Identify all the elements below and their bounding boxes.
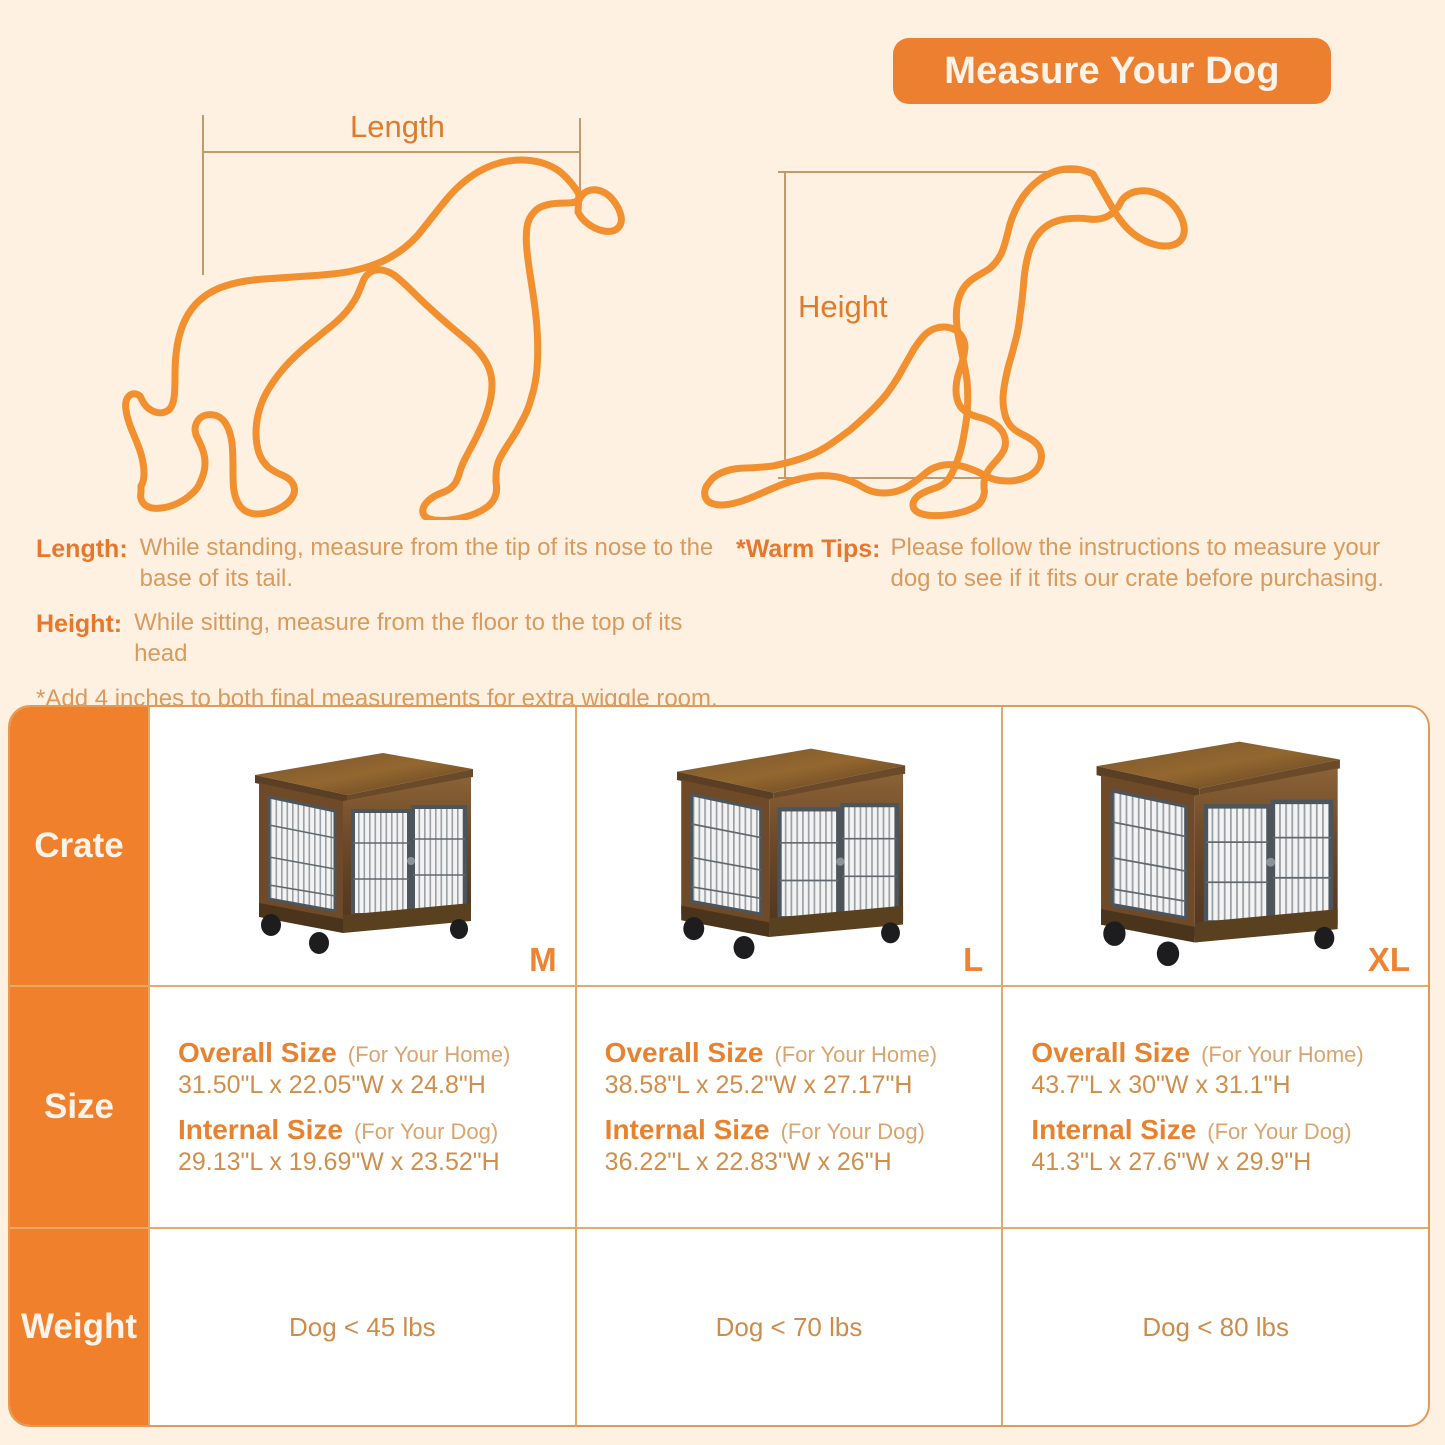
overall-size-title-xl: Overall Size [1031,1037,1190,1069]
warm-tips-block: *Warm Tips: Please follow the instructio… [736,533,1426,608]
overall-size-line-l: Overall Size (For Your Home) [605,1037,1002,1069]
overall-size-sub-xl: (For Your Home) [1201,1042,1364,1068]
sitting-dog-outline [705,169,1185,516]
dog-crate-icon-xl [1056,726,1376,966]
internal-size-line-l: Internal Size (For Your Dog) [605,1114,1002,1146]
dog-crate-icon-m [237,739,487,954]
crate-size-tag-m: M [529,941,557,979]
length-label: Length [350,109,445,144]
weight-cell-xl: Dog < 80 lbs [1001,1229,1428,1425]
internal-size-value-l: 36.22"L x 22.83"W x 26"H [605,1148,1002,1177]
crate-cell-l: L [575,707,1002,985]
height-instruction-text: While sitting, measure from the floor to… [134,608,726,669]
crate-size-tag-xl: XL [1368,941,1410,979]
crate-size-comparison-table: Crate [8,705,1430,1427]
crate-figure-m [160,717,565,975]
crate-size-tag-l: L [963,941,983,979]
row-header-weight: Weight [10,1229,148,1425]
row-header-size-label: Size [44,1087,114,1127]
crate-figure-xl [1013,717,1418,975]
table-row-crate: Crate [10,707,1428,985]
dog-crate-icon-l [644,734,934,959]
internal-size-line-xl: Internal Size (For Your Dog) [1031,1114,1428,1146]
length-instruction-key: Length: [36,533,140,565]
table-row-weight: Weight Dog < 45 lbs Dog < 70 lbs Dog < 8… [10,1227,1428,1425]
overall-size-value-m: 31.50"L x 22.05"W x 24.8"H [178,1071,575,1100]
internal-size-title-m: Internal Size [178,1114,343,1146]
overall-size-line-m: Overall Size (For Your Home) [178,1037,575,1069]
weight-cell-m: Dog < 45 lbs [148,1229,575,1425]
crate-figure-l [587,717,992,975]
row-header-crate: Crate [10,707,148,985]
height-instruction-row: Height: While sitting, measure from the … [36,608,726,669]
measurement-instructions: Length: While standing, measure from the… [36,533,726,715]
table-row-size: Size Overall Size (For Your Home) 31.50"… [10,985,1428,1227]
internal-size-line-m: Internal Size (For Your Dog) [178,1114,575,1146]
warm-tips-key: *Warm Tips: [736,533,890,565]
overall-size-sub-m: (For Your Home) [348,1042,511,1068]
weight-value-xl: Dog < 80 lbs [1142,1312,1289,1343]
crate-cell-m: M [148,707,575,985]
size-block-m: Overall Size (For Your Home) 31.50"L x 2… [178,1037,575,1177]
size-cell-xl: Overall Size (For Your Home) 43.7"L x 30… [1001,987,1428,1227]
internal-size-title-xl: Internal Size [1031,1114,1196,1146]
size-block-l: Overall Size (For Your Home) 38.58"L x 2… [605,1037,1002,1177]
weight-value-l: Dog < 70 lbs [716,1312,863,1343]
overall-size-sub-l: (For Your Home) [774,1042,937,1068]
internal-size-title-l: Internal Size [605,1114,770,1146]
internal-size-value-m: 29.13"L x 19.69"W x 23.52"H [178,1148,575,1177]
length-instruction-row: Length: While standing, measure from the… [36,533,726,594]
length-instruction-text: While standing, measure from the tip of … [140,533,726,594]
warm-tips-text: Please follow the instructions to measur… [890,533,1426,594]
row-header-crate-label: Crate [34,826,123,866]
size-cell-m: Overall Size (For Your Home) 31.50"L x 2… [148,987,575,1227]
internal-size-value-xl: 41.3"L x 27.6"W x 29.9"H [1031,1148,1428,1177]
standing-dog-outline [126,160,622,520]
height-label: Height [798,289,888,324]
overall-size-title-m: Overall Size [178,1037,337,1069]
overall-size-title-l: Overall Size [605,1037,764,1069]
overall-size-value-l: 38.58"L x 25.2"W x 27.17"H [605,1071,1002,1100]
row-header-size: Size [10,987,148,1227]
overall-size-value-xl: 43.7"L x 30"W x 31.1"H [1031,1071,1428,1100]
internal-size-sub-xl: (For Your Dog) [1207,1119,1351,1145]
weight-value-m: Dog < 45 lbs [289,1312,436,1343]
overall-size-line-xl: Overall Size (For Your Home) [1031,1037,1428,1069]
crate-cell-xl: XL [1001,707,1428,985]
height-instruction-key: Height: [36,608,134,640]
row-header-weight-label: Weight [21,1307,137,1347]
weight-cell-l: Dog < 70 lbs [575,1229,1002,1425]
dog-measurement-diagrams: Length Height [0,0,1445,520]
internal-size-sub-m: (For Your Dog) [354,1119,498,1145]
size-block-xl: Overall Size (For Your Home) 43.7"L x 30… [1031,1037,1428,1177]
warm-tips-row: *Warm Tips: Please follow the instructio… [736,533,1426,594]
internal-size-sub-l: (For Your Dog) [781,1119,925,1145]
size-cell-l: Overall Size (For Your Home) 38.58"L x 2… [575,987,1002,1227]
